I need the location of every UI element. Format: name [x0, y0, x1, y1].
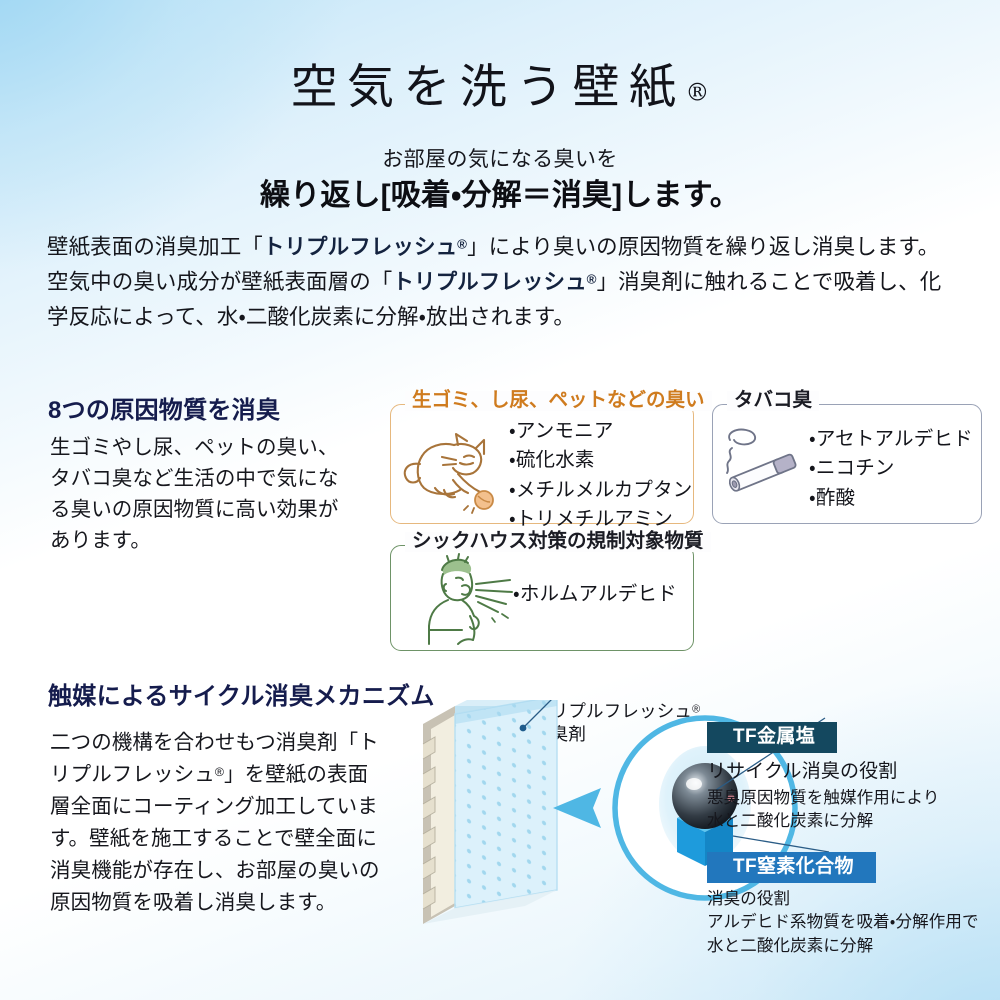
- odor-box-tobacco-legend: タバコ臭: [727, 391, 819, 411]
- odor-box-tobacco-items: ・アセトアルデヒド ・ニコチン ・酢酸: [809, 425, 973, 513]
- list-item: ・ニコチン: [809, 454, 973, 483]
- page-title: 空気を洗う壁紙®: [0, 48, 1000, 117]
- callout-detail-metal-2: 水と二酸化炭素に分解: [707, 810, 939, 833]
- brand-name-2: トリプルフレッシュ: [392, 270, 586, 294]
- registered-mark-2: ®: [587, 271, 597, 286]
- callout-tf-nitrogen-compound: 消臭の役割 アルデヒド系物質を吸着・分解作用で 水と二酸化炭素に分解: [707, 888, 979, 958]
- lead-brand-2: トリプルフレッシュ®: [392, 270, 596, 294]
- cigarette-icon: [714, 424, 810, 511]
- section-body-odor: 生ゴミやし尿、ペットの臭い、タバコ臭など生活の中で気になる臭いの原因物質に高い効…: [50, 432, 350, 557]
- registered-mark: ®: [685, 79, 709, 107]
- badge-tf-metal-salt: TF金属塩: [707, 722, 837, 753]
- lead-paragraph: 壁紙表面の消臭加工「トリプルフレッシュ®」により臭いの原因物質を繰り返し消臭しま…: [47, 230, 952, 334]
- section-heading-mechanism: 触媒によるサイクル消臭メカニズム: [48, 676, 435, 711]
- lead-brand-1: トリプルフレッシュ®: [263, 235, 467, 259]
- list-item: ・硫化水素: [509, 446, 693, 475]
- brand-name-1: トリプルフレッシュ: [263, 235, 457, 259]
- coughing-person-icon: [418, 552, 524, 651]
- section-heading-odor: 8つの原因物質を消臭: [48, 390, 280, 425]
- page-title-text: 空気を洗う壁紙: [291, 60, 686, 115]
- infographic-page: 空気を洗う壁紙® お部屋の気になる臭いを 繰り返し[吸着・分解＝消臭]します。 …: [0, 0, 1000, 1000]
- mech-registered-mark: ®: [215, 765, 224, 779]
- mech-body-part-1: 二つの機構を合わせもつ消臭剤「: [50, 731, 358, 754]
- list-item: ・ホルムアルデヒド: [513, 580, 677, 609]
- list-item: ・メチルメルカプタン: [509, 476, 693, 505]
- callout-tf-metal-salt: リサイクル消臭の役割 悪臭原因物質を触媒作用により 水と二酸化炭素に分解: [707, 758, 939, 833]
- list-item: ・アセトアルデヒド: [809, 425, 973, 454]
- section-body-mechanism: 二つの機構を合わせもつ消臭剤「トリプルフレッシュ®」を壁紙の表面層全面にコーティ…: [50, 727, 380, 919]
- callout-detail-metal-1: 悪臭原因物質を触媒作用により: [707, 787, 939, 810]
- subtitle-line-2: 繰り返し[吸着・分解＝消臭]します。: [0, 170, 1000, 214]
- list-item: ・アンモニア: [509, 417, 693, 446]
- badge-tf-nitrogen-compound: TF窒素化合物: [707, 852, 876, 883]
- callout-detail-nitro-2: 水と二酸化炭素に分解: [707, 935, 979, 958]
- subtitle-line-1: お部屋の気になる臭いを: [0, 143, 1000, 173]
- callout-role-metal: リサイクル消臭の役割: [707, 758, 939, 787]
- cat-icon: [398, 418, 510, 519]
- odor-box-waste-items: ・アンモニア ・硫化水素 ・メチルメルカプタン ・トリメチルアミン: [509, 417, 693, 534]
- odor-box-sickhouse-items: ・ホルムアルデヒド: [513, 580, 677, 609]
- callout-role-nitro: 消臭の役割: [707, 888, 979, 911]
- list-item: ・酢酸: [809, 484, 973, 513]
- lead-part-1: 壁紙表面の消臭加工「: [47, 235, 263, 259]
- odor-box-sickhouse-legend: シックハウス対策の規制対象物質: [405, 532, 711, 552]
- callout-detail-nitro-1: アルデヒド系物質を吸着・分解作用で: [707, 911, 979, 934]
- registered-mark-1: ®: [457, 236, 467, 251]
- odor-box-waste-legend: 生ゴミ、し尿、ペットなどの臭い: [405, 391, 712, 411]
